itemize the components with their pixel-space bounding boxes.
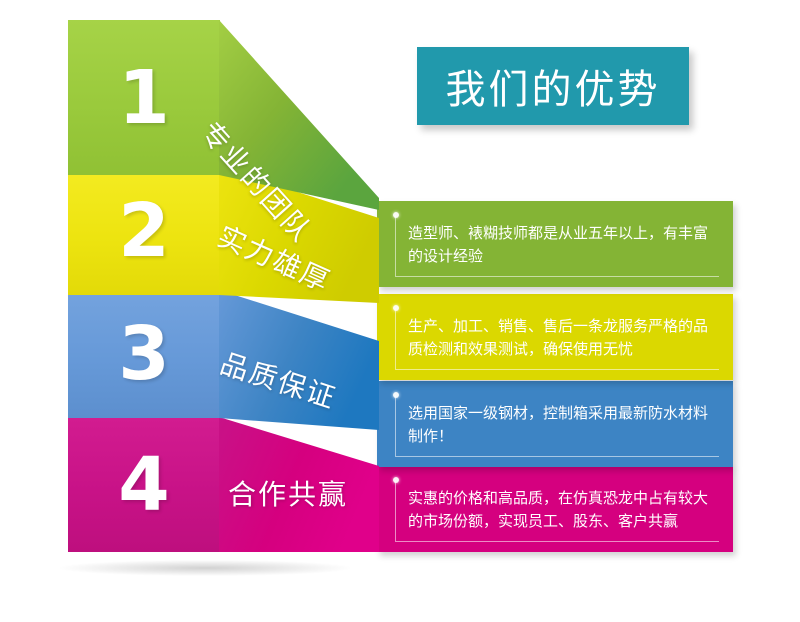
number-label-2: 2 — [118, 194, 170, 268]
wedge-1 — [219, 20, 379, 220]
advantages-infographic: 我们的优势 4 合作共赢 3 — [0, 0, 800, 622]
advantage-row-1: 1 专业的团队 — [0, 20, 800, 200]
number-block-1: 1 — [68, 20, 220, 175]
number-label-1: 1 — [118, 61, 170, 135]
